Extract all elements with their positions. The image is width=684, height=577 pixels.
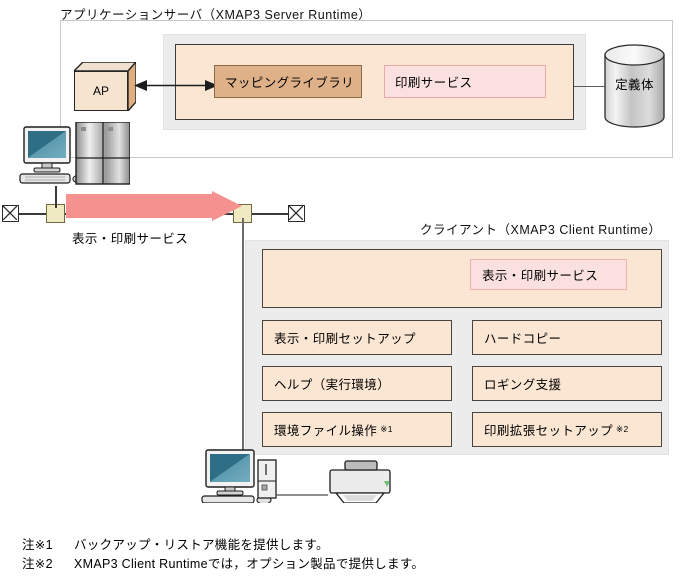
footnote-0-text: バックアップ・リストア機能を提供します。 [74,538,329,552]
server-print-service-box: 印刷サービス [384,65,546,98]
network-drop-client [242,218,244,452]
client-item-5-note: ※2 [616,424,629,435]
ap-mapping-double-arrow [134,80,218,91]
footnote-row-1: 注※2XMAP3 Client Runtimeでは，オプション製品で提供します。 [22,555,424,574]
client-machine-icon [200,448,405,503]
definition-body-cylinder: 定義体 [604,44,665,128]
client-item-4: 環境ファイル操作※1 [262,412,452,447]
client-print-service-box: 表示・印刷サービス [470,259,627,290]
footnote-1-tag: 注※2 [22,555,74,574]
network-terminator-left [2,205,19,222]
client-item-1: ハードコピー [472,320,662,355]
ap-box: AP [74,62,136,111]
client-item-0: 表示・印刷セットアップ [262,320,452,355]
client-item-4-label: 環境ファイル操作 [274,420,377,439]
client-item-3: ロギング支援 [472,366,662,401]
footnote-row-0: 注※1バックアップ・リストア機能を提供します。 [22,536,424,555]
network-drop-server [55,186,57,208]
client-caption: クライアント（XMAP3 Client Runtime） [420,219,661,238]
definition-body-connector [574,86,606,87]
footnotes: 注※1バックアップ・リストア機能を提供します。 注※2XMAP3 Client … [22,536,424,574]
client-item-5: 印刷拡張セットアップ※2 [472,412,662,447]
network-terminator-right [288,205,305,222]
client-item-0-label: 表示・印刷セットアップ [274,328,416,347]
server-machine-icon [18,122,130,200]
footnote-1-text: XMAP3 Client Runtimeでは，オプション製品で提供します。 [74,557,424,571]
mapping-library-box: マッピングライブラリ [214,65,362,98]
client-item-1-label: ハードコピー [484,328,561,347]
footnote-0-tag: 注※1 [22,536,74,555]
ap-label: AP [74,71,128,111]
client-item-3-label: ロギング支援 [484,374,561,393]
network-service-label: 表示・印刷サービス [72,228,188,247]
client-item-4-note: ※1 [380,424,393,435]
definition-body-label: 定義体 [604,74,665,93]
client-item-2: ヘルプ（実行環境） [262,366,452,401]
service-flow-arrow [66,191,242,221]
client-item-5-label: 印刷拡張セットアップ [484,420,613,439]
client-item-2-label: ヘルプ（実行環境） [274,374,390,393]
